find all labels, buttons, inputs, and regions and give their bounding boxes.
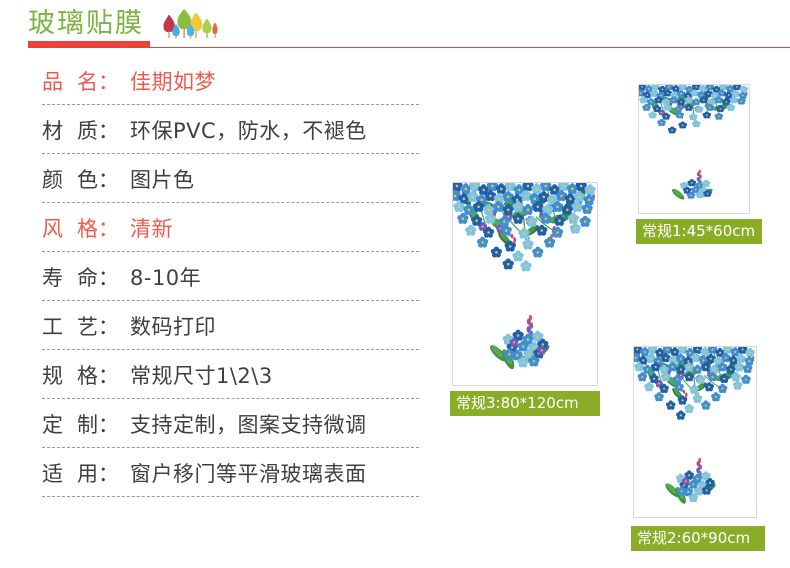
spec-row: 定制： 支持定制，图案支持微调: [0, 399, 440, 448]
spec-divider: [42, 496, 419, 497]
spec-label: 寿命：: [42, 262, 130, 292]
spec-label: 材质：: [42, 115, 130, 145]
page-title: 玻璃贴膜: [28, 8, 144, 40]
spec-value: 环保PVC，防水，不褪色: [130, 115, 367, 145]
spec-label: 规格：: [42, 360, 130, 390]
spec-value: 数码打印: [130, 311, 216, 341]
page-header: 玻璃贴膜: [0, 0, 790, 56]
spec-value: 支持定制，图案支持微调: [130, 409, 367, 439]
spec-value: 8-10年: [130, 262, 201, 292]
spec-row: 寿命： 8-10年: [0, 252, 440, 301]
product-preview-medium[interactable]: [633, 346, 757, 518]
spec-row: 规格： 常规尺寸1\2\3: [0, 350, 440, 399]
product-frame: [452, 182, 598, 386]
header-rule-thick: [28, 41, 150, 47]
product-frame: [633, 346, 757, 518]
blue-forget-me-not-decal: [634, 347, 756, 517]
spec-row: 品名： 佳期如梦: [0, 56, 440, 105]
spec-label: 适用：: [42, 458, 130, 488]
colored-trees-icon: [158, 9, 218, 43]
spec-row: 风格： 清新: [0, 203, 440, 252]
blue-forget-me-not-decal: [453, 183, 597, 385]
product-preview-main[interactable]: [452, 182, 598, 386]
spec-value: 常规尺寸1\2\3: [130, 360, 273, 390]
spec-value: 图片色: [130, 164, 195, 194]
product-preview-small[interactable]: [638, 84, 750, 214]
spec-row: 适用： 窗户移门等平滑玻璃表面: [0, 448, 440, 497]
product-frame: [638, 84, 750, 214]
spec-row: 材质： 环保PVC，防水，不褪色: [0, 105, 440, 154]
spec-list: 品名： 佳期如梦 材质： 环保PVC，防水，不褪色 颜色： 图片色 风格： 清新…: [0, 56, 440, 497]
product-caption-medium: 常规2:60*90cm: [631, 526, 765, 551]
spec-row: 颜色： 图片色: [0, 154, 440, 203]
spec-row: 工艺： 数码打印: [0, 301, 440, 350]
header-rule-thin: [28, 47, 790, 48]
spec-value: 窗户移门等平滑玻璃表面: [130, 458, 367, 488]
product-caption-small: 常规1:45*60cm: [636, 219, 762, 244]
spec-value: 清新: [130, 213, 173, 243]
blue-forget-me-not-decal: [639, 85, 749, 213]
product-caption-main: 常规3:80*120cm: [450, 391, 600, 416]
spec-label: 品名：: [42, 66, 130, 96]
spec-label: 风格：: [42, 213, 130, 243]
spec-value: 佳期如梦: [130, 66, 216, 96]
spec-label: 定制：: [42, 409, 130, 439]
spec-label: 工艺：: [42, 311, 130, 341]
spec-label: 颜色：: [42, 164, 130, 194]
